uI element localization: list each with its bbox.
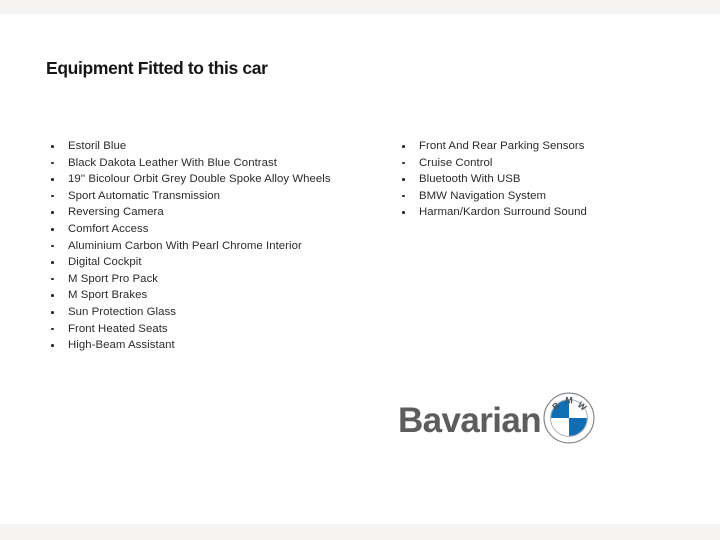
bullet-icon: [402, 211, 405, 214]
list-item-label: BMW Navigation System: [419, 190, 546, 202]
bullet-icon: [51, 294, 54, 297]
list-item: BMW Navigation System: [397, 188, 697, 205]
list-item-label: Digital Cockpit: [68, 256, 142, 268]
equipment-column-right: Front And Rear Parking Sensors Cruise Co…: [397, 138, 697, 221]
list-item-label: Aluminium Carbon With Pearl Chrome Inter…: [68, 240, 302, 252]
list-item: Front And Rear Parking Sensors: [397, 138, 697, 155]
list-item: M Sport Pro Pack: [46, 271, 376, 288]
brand-wordmark: Bavarian: [398, 401, 541, 441]
bullet-icon: [402, 195, 405, 198]
list-item: Aluminium Carbon With Pearl Chrome Inter…: [46, 238, 376, 255]
list-item-label: High-Beam Assistant: [68, 339, 175, 351]
bullet-icon: [51, 228, 54, 231]
bullet-icon: [51, 211, 54, 214]
brand-lockup: Bavarian B M W: [398, 392, 598, 450]
list-item-label: M Sport Brakes: [68, 289, 147, 301]
list-item-label: M Sport Pro Pack: [68, 273, 158, 285]
equipment-column-left: Estoril Blue Black Dakota Leather With B…: [46, 138, 376, 354]
bullet-icon: [402, 162, 405, 165]
bullet-icon: [51, 278, 54, 281]
list-item-label: Cruise Control: [419, 157, 493, 169]
list-item: Estoril Blue: [46, 138, 376, 155]
top-border-band: [0, 0, 720, 14]
list-item: Cruise Control: [397, 155, 697, 172]
list-item: Reversing Camera: [46, 204, 376, 221]
list-item: Sport Automatic Transmission: [46, 188, 376, 205]
bullet-icon: [51, 344, 54, 347]
bullet-icon: [51, 311, 54, 314]
list-item: High-Beam Assistant: [46, 337, 376, 354]
list-item-label: Estoril Blue: [68, 140, 126, 152]
bottom-border-band: [0, 524, 720, 540]
slide-content-area: Equipment Fitted to this car Estoril Blu…: [0, 14, 720, 524]
bullet-icon: [51, 162, 54, 165]
list-item-label: 19'' Bicolour Orbit Grey Double Spoke Al…: [68, 173, 331, 185]
list-item-label: Front Heated Seats: [68, 323, 168, 335]
list-item-label: Front And Rear Parking Sensors: [419, 140, 584, 152]
roundel-letter-m: M: [565, 396, 572, 406]
bullet-icon: [51, 195, 54, 198]
bullet-icon: [402, 145, 405, 148]
list-item: M Sport Brakes: [46, 287, 376, 304]
bullet-icon: [51, 261, 54, 264]
list-item-label: Black Dakota Leather With Blue Contrast: [68, 157, 277, 169]
list-item: Sun Protection Glass: [46, 304, 376, 321]
list-item: Black Dakota Leather With Blue Contrast: [46, 155, 376, 172]
list-item: Front Heated Seats: [46, 321, 376, 338]
list-item-label: Sport Automatic Transmission: [68, 190, 220, 202]
list-item-label: Bluetooth With USB: [419, 173, 521, 185]
bmw-roundel-logo: B M W: [543, 392, 595, 444]
page-title: Equipment Fitted to this car: [46, 58, 268, 79]
bullet-icon: [51, 178, 54, 181]
bullet-icon: [51, 145, 54, 148]
equipment-list-left: Estoril Blue Black Dakota Leather With B…: [46, 138, 376, 354]
bullet-icon: [402, 178, 405, 181]
bullet-icon: [51, 245, 54, 248]
list-item: 19'' Bicolour Orbit Grey Double Spoke Al…: [46, 171, 376, 188]
list-item-label: Harman/Kardon Surround Sound: [419, 206, 587, 218]
list-item-label: Sun Protection Glass: [68, 306, 176, 318]
list-item: Comfort Access: [46, 221, 376, 238]
list-item: Harman/Kardon Surround Sound: [397, 204, 697, 221]
equipment-list-right: Front And Rear Parking Sensors Cruise Co…: [397, 138, 697, 221]
list-item-label: Comfort Access: [68, 223, 148, 235]
bullet-icon: [51, 328, 54, 331]
list-item: Bluetooth With USB: [397, 171, 697, 188]
list-item-label: Reversing Camera: [68, 206, 164, 218]
list-item: Digital Cockpit: [46, 254, 376, 271]
